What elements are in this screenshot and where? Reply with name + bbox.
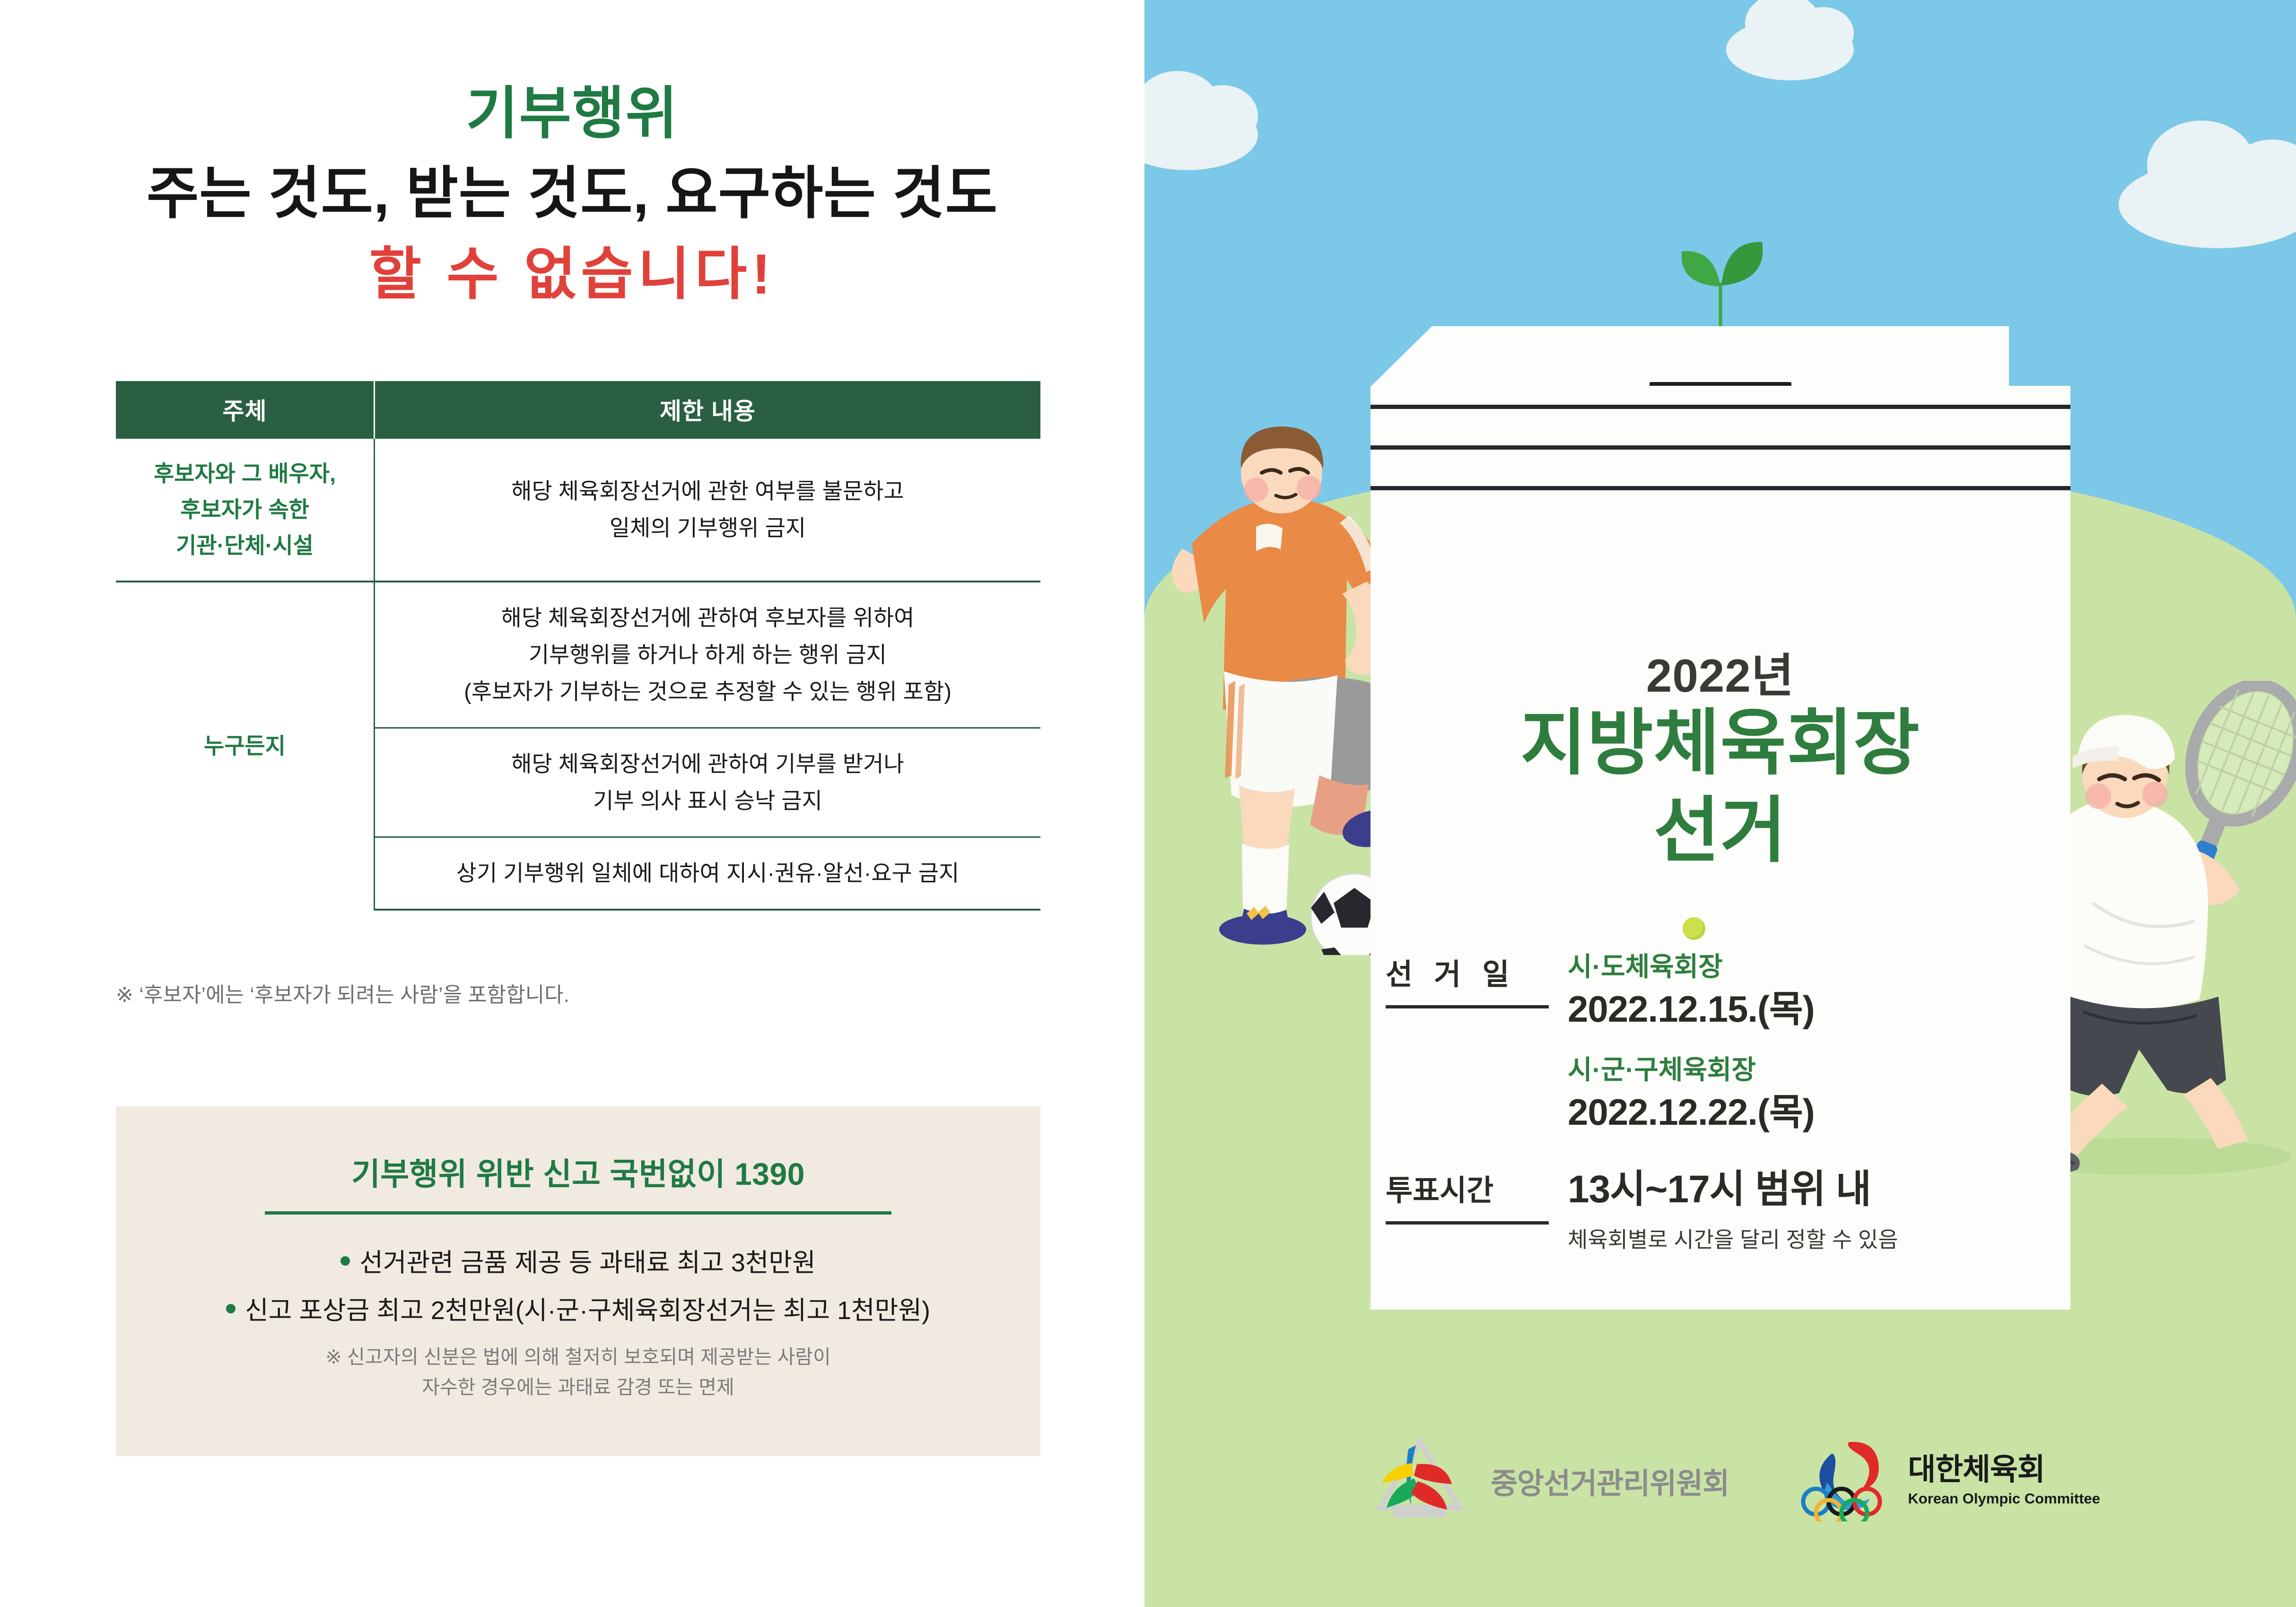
vote-time-label: 투표시간 [1386, 1166, 1549, 1225]
ballot-title-text: 지방체육회장 선거 [1371, 700, 2070, 875]
table-header-subject: 주체 [116, 381, 375, 439]
content-line: 일체의 기부행위 금지 [384, 510, 1032, 547]
subject-line: 후보자와 그 배우자, [124, 456, 365, 492]
content-line: 상기 기부행위 일체에 대하여 지시·권유·알선·요구 금지 [384, 855, 1032, 892]
table-footnote: ※ ‘후보자’에는 ‘후보자가 되려는 사람’을 포함합니다. [116, 978, 569, 1008]
election-day-row: 선 거 일 시·도체육회장 2022.12.15.(목) 시·군·구체육회장 2… [1386, 950, 2190, 1135]
election-info-block: 선 거 일 시·도체육회장 2022.12.15.(목) 시·군·구체육회장 2… [1386, 950, 2190, 1270]
list-item: 선거관련 금품 제공 등 과태료 최고 3천만원 [116, 1244, 1040, 1282]
subject-line: 후보자가 속한 [124, 492, 365, 528]
subject-line: 기관·단체·시설 [124, 528, 365, 564]
election-scope-2: 시·군·구체육회장 [1568, 1053, 2190, 1086]
vote-time-value: 13시~17시 범위 내 [1568, 1166, 2190, 1213]
headline-line-1: 기부행위 [0, 80, 1144, 148]
fine-print-line: 자수한 경우에는 과태료 감경 또는 면제 [116, 1372, 1040, 1403]
ballot-year-text: 2022년 [1371, 638, 2070, 705]
headline-line-3: 할 수 없습니다! [0, 237, 1144, 311]
koc-logo: 대한체육회 Korean Olympic Committee [1800, 1437, 2100, 1524]
table-cell-content-candidate: 해당 체육회장선거에 관한 여부를 불문하고 일체의 기부행위 금지 [375, 439, 1041, 582]
headline-line-2: 주는 것도, 받는 것도, 요구하는 것도 [0, 156, 1144, 231]
rules-table-wrapper: 주체 제한 내용 후보자와 그 배우자, 후보자가 속한 기관·단체·시설 해당… [116, 381, 1040, 911]
headline-block: 기부행위 주는 것도, 받는 것도, 요구하는 것도 할 수 없습니다! [0, 80, 1144, 311]
koc-name-ko: 대한체육회 [1908, 1454, 2100, 1485]
vote-time-note: 체육회별로 시간을 달리 정할 수 있음 [1568, 1225, 2190, 1254]
election-date-1: 2022.12.15.(목) [1568, 986, 2190, 1033]
content-line: (후보자가 기부하는 것으로 추정할 수 있는 행위 포함) [384, 673, 1032, 710]
table-cell-subject-candidate: 후보자와 그 배우자, 후보자가 속한 기관·단체·시설 [116, 439, 375, 582]
cloud-icon [1726, 19, 1854, 80]
content-line: 해당 체육회장선거에 관하여 후보자를 위하여 [384, 599, 1032, 636]
election-date-2: 2022.12.22.(목) [1568, 1089, 2190, 1136]
fine-print-line: ※ 신고자의 신분은 법에 의해 철저히 보호되며 제공받는 사람이 [116, 1342, 1040, 1372]
report-title: 기부행위 위반 신고 국번없이 1390 [116, 1106, 1040, 1194]
table-cell-content-anyone-1: 해당 체육회장선거에 관하여 후보자를 위하여 기부행위를 하거나 하게 하는 … [375, 582, 1041, 728]
ballot-title-line-1: 지방체육회장 [1371, 700, 2070, 787]
right-panel: 2022년 지방체육회장 선거 선 거 일 시·도체육회장 2022.12.15… [1144, 0, 2296, 1607]
vote-time-row: 투표시간 13시~17시 범위 내 체육회별로 시간을 달리 정할 수 있음 [1386, 1166, 2190, 1254]
content-line: 기부 의사 표시 승낙 금지 [384, 782, 1032, 819]
election-day-label: 선 거 일 [1386, 950, 1549, 1008]
sprout-icon [1650, 237, 1791, 332]
content-line: 해당 체육회장선거에 관하여 기부를 받거나 [384, 746, 1032, 782]
bullet-dot-icon [340, 1256, 350, 1266]
ballot-title-line-2: 선거 [1371, 787, 2070, 875]
bullet-dot-icon [226, 1304, 236, 1313]
left-panel: 기부행위 주는 것도, 받는 것도, 요구하는 것도 할 수 없습니다! 주체 … [0, 0, 1144, 1607]
table-cell-content-anyone-3: 상기 기부행위 일체에 대하여 지시·권유·알선·요구 금지 [375, 837, 1041, 910]
content-line: 해당 체육회장선거에 관한 여부를 불문하고 [384, 473, 1032, 510]
nec-logo-mark [1367, 1438, 1475, 1523]
cloud-icon [2119, 161, 2296, 248]
rules-table: 주체 제한 내용 후보자와 그 배우자, 후보자가 속한 기관·단체·시설 해당… [116, 381, 1040, 911]
table-header-content: 제한 내용 [375, 381, 1041, 439]
poster-root: 기부행위 주는 것도, 받는 것도, 요구하는 것도 할 수 없습니다! 주체 … [0, 0, 2296, 1607]
bullet-text: 신고 포상금 최고 2천만원(시·군·구체육회장선거는 최고 1천만원) [245, 1296, 930, 1325]
report-fine-print: ※ 신고자의 신분은 법에 의해 철저히 보호되며 제공받는 사람이 자수한 경… [116, 1342, 1040, 1402]
report-bullet-list: 선거관련 금품 제공 등 과태료 최고 3천만원 신고 포상금 최고 2천만원(… [116, 1244, 1040, 1330]
nec-logo: 중앙선거관리위원회 [1367, 1438, 1729, 1523]
list-item: 신고 포상금 최고 2천만원(시·군·구체육회장선거는 최고 1천만원) [116, 1292, 1040, 1330]
table-row: 후보자와 그 배우자, 후보자가 속한 기관·단체·시설 해당 체육회장선거에 … [116, 439, 1040, 582]
nec-logo-text: 중앙선거관리위원회 [1491, 1459, 1729, 1502]
bullet-text: 선거관련 금품 제공 등 과태료 최고 3천만원 [359, 1249, 816, 1277]
table-cell-subject-anyone: 누구든지 [116, 582, 375, 910]
tennis-ball-icon [1683, 917, 1705, 940]
table-cell-content-anyone-2: 해당 체육회장선거에 관하여 기부를 받거나 기부 의사 표시 승낙 금지 [375, 728, 1041, 837]
koc-name-en: Korean Olympic Committee [1908, 1490, 2100, 1507]
report-divider [265, 1211, 891, 1215]
report-box: 기부행위 위반 신고 국번없이 1390 선거관련 금품 제공 등 과태료 최고… [116, 1106, 1040, 1456]
election-scope-1: 시·도체육회장 [1568, 950, 2190, 983]
koc-logo-mark [1800, 1437, 1893, 1524]
koc-logo-text: 대한체육회 Korean Olympic Committee [1908, 1454, 2100, 1507]
table-row: 누구든지 해당 체육회장선거에 관하여 후보자를 위하여 기부행위를 하거나 하… [116, 582, 1040, 728]
content-line: 기부행위를 하거나 하게 하는 행위 금지 [384, 636, 1032, 673]
table-header-row: 주체 제한 내용 [116, 381, 1040, 439]
logo-row: 중앙선거관리위원회 [1367, 1437, 2199, 1524]
cloud-icon [1144, 99, 1258, 170]
